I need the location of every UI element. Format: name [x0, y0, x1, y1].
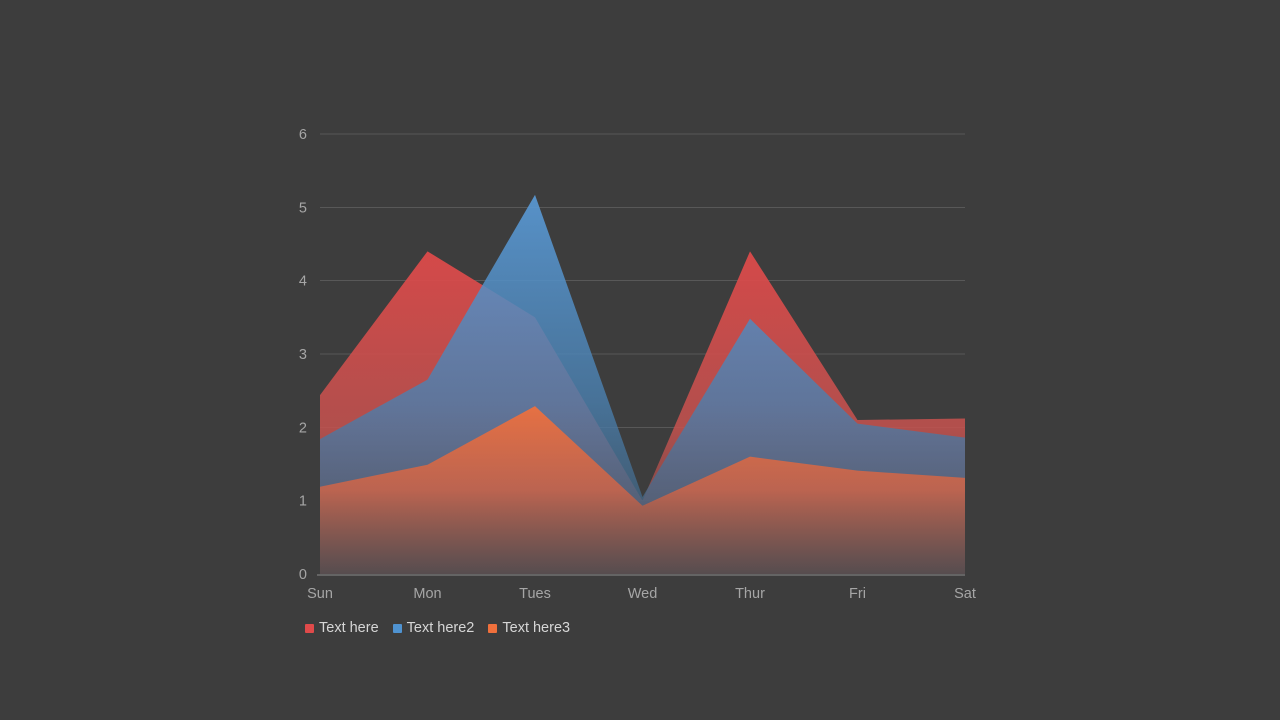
- legend-item[interactable]: Text here2: [393, 621, 475, 636]
- y-tick-label: 1: [299, 494, 307, 510]
- plot-areas: [320, 195, 965, 574]
- x-tick-label: Mon: [413, 586, 441, 602]
- y-tick-label: 4: [299, 274, 307, 290]
- y-tick-label: 5: [299, 200, 307, 216]
- x-tick-label: Wed: [628, 586, 658, 602]
- chart-legend: Text hereText here2Text here3: [305, 621, 570, 636]
- legend-label: Text here2: [407, 621, 475, 636]
- x-tick-label: Thur: [735, 586, 765, 602]
- x-tick-label: Fri: [849, 586, 866, 602]
- y-tick-label: 2: [299, 420, 307, 436]
- y-axis-tick-labels: 0123456: [299, 127, 307, 583]
- legend-swatch-icon: [305, 624, 314, 633]
- legend-label: Text here3: [502, 621, 570, 636]
- legend-item[interactable]: Text here: [305, 621, 379, 636]
- x-tick-label: Sat: [954, 586, 976, 602]
- x-axis-tick-labels: SunMonTuesWedThurFriSat: [307, 586, 976, 602]
- y-tick-label: 6: [299, 127, 307, 143]
- legend-label: Text here: [319, 621, 379, 636]
- x-tick-label: Sun: [307, 586, 333, 602]
- y-tick-label: 0: [299, 567, 307, 583]
- y-tick-label: 3: [299, 347, 307, 363]
- chart-canvas: 0123456 SunMonTuesWedThurFriSat: [0, 0, 1280, 720]
- legend-swatch-icon: [488, 624, 497, 633]
- legend-item[interactable]: Text here3: [488, 621, 570, 636]
- area-chart: 0123456 SunMonTuesWedThurFriSat Text her…: [0, 0, 1280, 720]
- x-tick-label: Tues: [519, 586, 551, 602]
- legend-swatch-icon: [393, 624, 402, 633]
